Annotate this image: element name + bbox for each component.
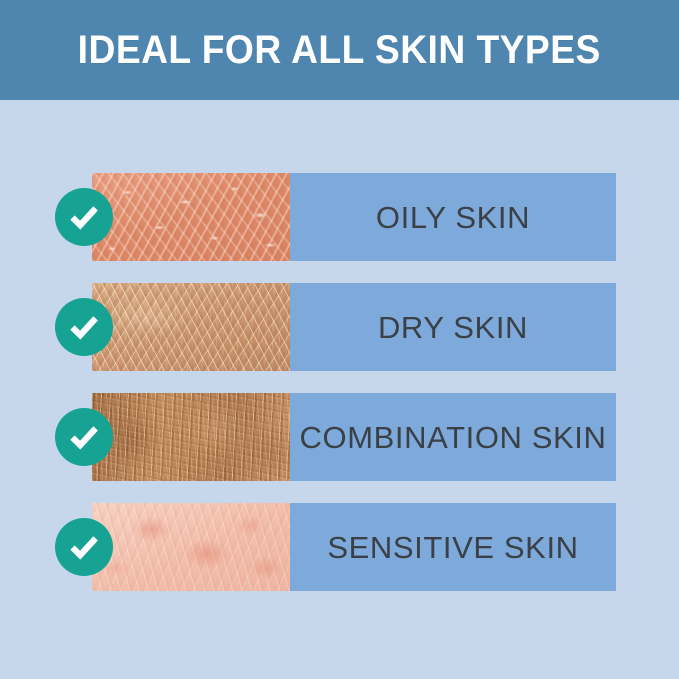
header-banner: IDEAL FOR ALL SKIN TYPES [0, 0, 679, 100]
skin-type-label: OILY SKIN [376, 202, 530, 233]
check-circle-icon [55, 408, 113, 466]
skin-texture-image [92, 173, 290, 261]
list-item[interactable]: COMBINATION SKIN [92, 393, 616, 481]
skin-type-label: COMBINATION SKIN [300, 422, 607, 453]
skin-texture-image [92, 283, 290, 371]
label-panel: SENSITIVE SKIN [290, 503, 616, 591]
skin-type-list: OILY SKIN DRY SKIN [0, 100, 679, 679]
list-item[interactable]: SENSITIVE SKIN [92, 503, 616, 591]
list-item[interactable]: DRY SKIN [92, 283, 616, 371]
check-circle-icon [55, 518, 113, 576]
check-circle-icon [55, 298, 113, 356]
check-circle-icon [55, 188, 113, 246]
skin-type-label: DRY SKIN [378, 312, 528, 343]
page-title: IDEAL FOR ALL SKIN TYPES [78, 30, 601, 70]
skin-swatch-combination [92, 393, 290, 481]
list-item[interactable]: OILY SKIN [92, 173, 616, 261]
label-panel: DRY SKIN [290, 283, 616, 371]
label-panel: COMBINATION SKIN [290, 393, 616, 481]
skin-texture-image [92, 503, 290, 591]
skin-swatch-oily [92, 173, 290, 261]
skin-swatch-dry [92, 283, 290, 371]
skin-texture-image [92, 393, 290, 481]
skin-swatch-sensitive [92, 503, 290, 591]
skin-types-infographic: IDEAL FOR ALL SKIN TYPES OILY SKIN DR [0, 0, 679, 679]
label-panel: OILY SKIN [290, 173, 616, 261]
skin-type-label: SENSITIVE SKIN [327, 532, 578, 563]
